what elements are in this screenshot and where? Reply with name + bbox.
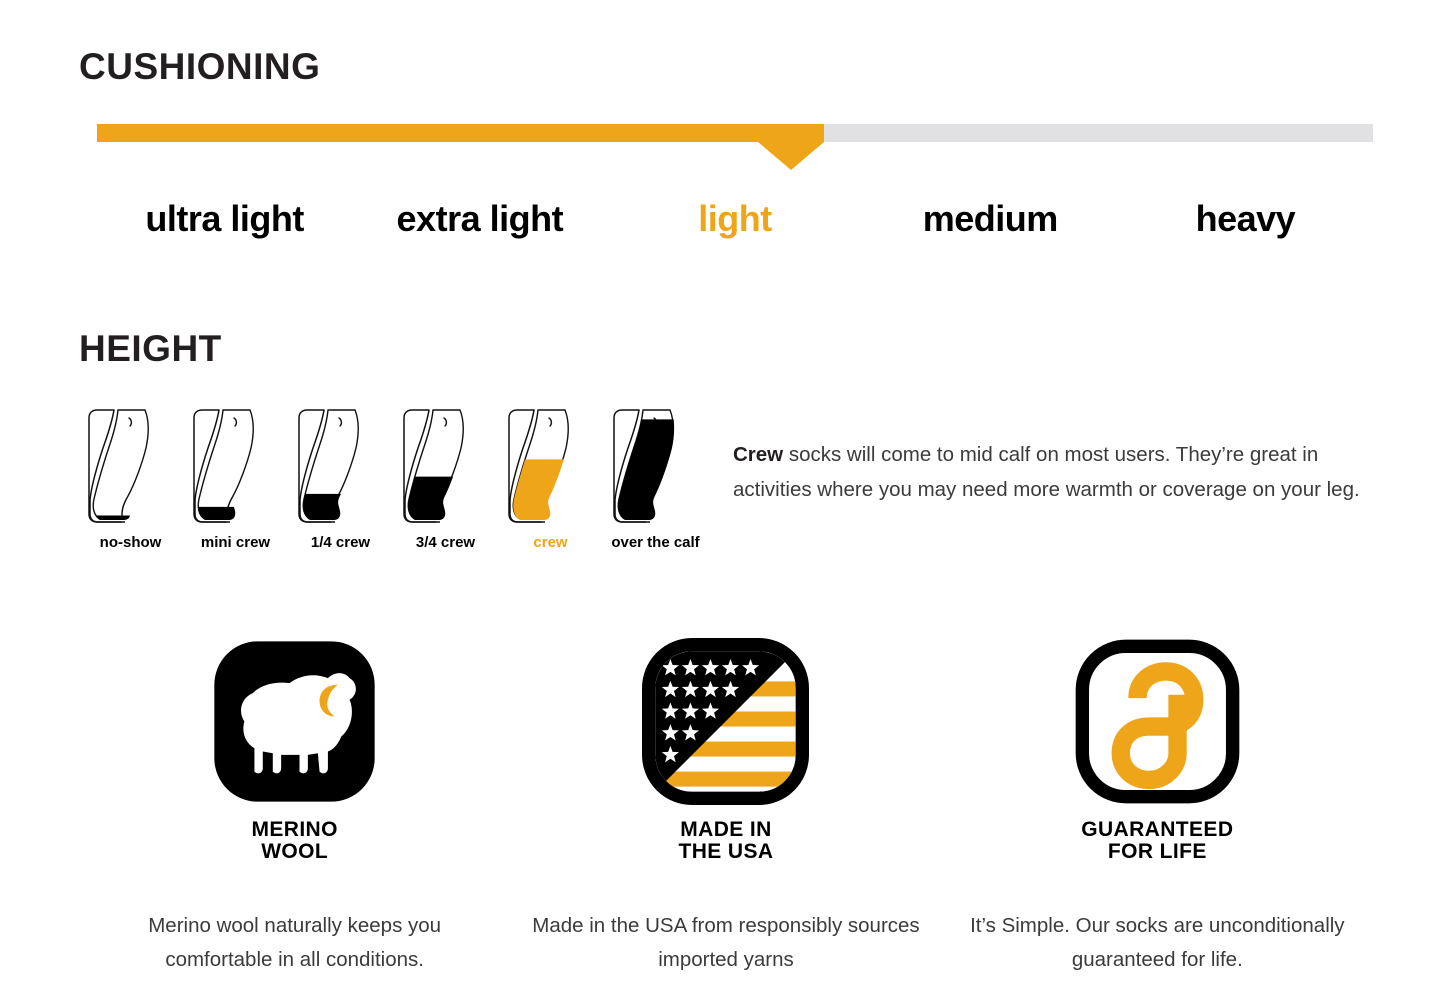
cushioning-section-title: CUSHIONING [79,46,320,88]
height-description-rest: socks will come to mid calf on most user… [733,443,1360,501]
sock-no-show-icon [81,404,181,528]
feature-badge-row: MERINO WOOLMerino wool naturally keeps y… [79,638,1373,977]
height-option-over-the-calf[interactable]: over the calf [603,404,708,551]
cushioning-level-light[interactable]: light [607,198,862,240]
guaranteed-for-life-infinity-icon [1074,638,1241,805]
feature-badge-description: Made in the USA from responsibly sources… [526,909,926,977]
sock-over-the-calf-icon [606,404,706,528]
cushioning-level-heavy[interactable]: heavy [1118,198,1373,240]
height-option-label: no-show [100,534,162,551]
cushioning-meter-marker[interactable] [758,142,824,170]
cushioning-meter[interactable] [97,124,1373,142]
height-option-no-show[interactable]: no-show [78,404,183,551]
height-option-label: 3/4 crew [416,534,475,551]
sock-quarter-crew-icon [291,404,391,528]
cushioning-meter-fill [97,124,824,142]
height-option-1-4-crew[interactable]: 1/4 crew [288,404,393,551]
product-spec-panel: CUSHIONING ultra lightextra lightlightme… [0,0,1441,1001]
feature-badge: MADE IN THE USAMade in the USA from resp… [510,638,941,977]
sock-fill [618,408,674,520]
height-section-title: HEIGHT [79,328,222,370]
height-option-label: crew [533,534,567,551]
sock-three-quarter-crew-icon [396,404,496,528]
made-in-usa-flag-icon [642,638,809,805]
feature-badge-title: GUARANTEED FOR LIFE [1081,819,1233,863]
height-option-label: 1/4 crew [311,534,370,551]
height-option-mini-crew[interactable]: mini crew [183,404,288,551]
cushioning-level-ultra-light[interactable]: ultra light [97,198,352,240]
height-option-row: no-showmini crew1/4 crew3/4 crewcrewover… [78,404,708,551]
height-description-lead: Crew [733,443,783,466]
height-option-label: mini crew [201,534,270,551]
height-option-crew[interactable]: crew [498,404,603,551]
feature-badge-title: MERINO WOOL [251,819,337,863]
cushioning-scale-labels: ultra lightextra lightlightmediumheavy [97,198,1373,240]
sock-mini-crew-icon [186,404,286,528]
height-option-3-4-crew[interactable]: 3/4 crew [393,404,498,551]
cushioning-level-medium[interactable]: medium [863,198,1118,240]
feature-badge-description: Merino wool naturally keeps you comforta… [95,909,495,977]
feature-badge: MERINO WOOLMerino wool naturally keeps y… [79,638,510,977]
height-description: Crew socks will come to mid calf on most… [733,437,1373,507]
feature-badge-title: MADE IN THE USA [679,819,774,863]
feature-badge: GUARANTEED FOR LIFEIt’s Simple. Our sock… [942,638,1373,977]
feature-badge-description: It’s Simple. Our socks are unconditional… [957,909,1357,977]
height-option-label: over the calf [611,534,699,551]
sock-crew-icon [501,404,601,528]
cushioning-level-extra-light[interactable]: extra light [352,198,607,240]
merino-wool-sheep-icon [211,638,378,805]
